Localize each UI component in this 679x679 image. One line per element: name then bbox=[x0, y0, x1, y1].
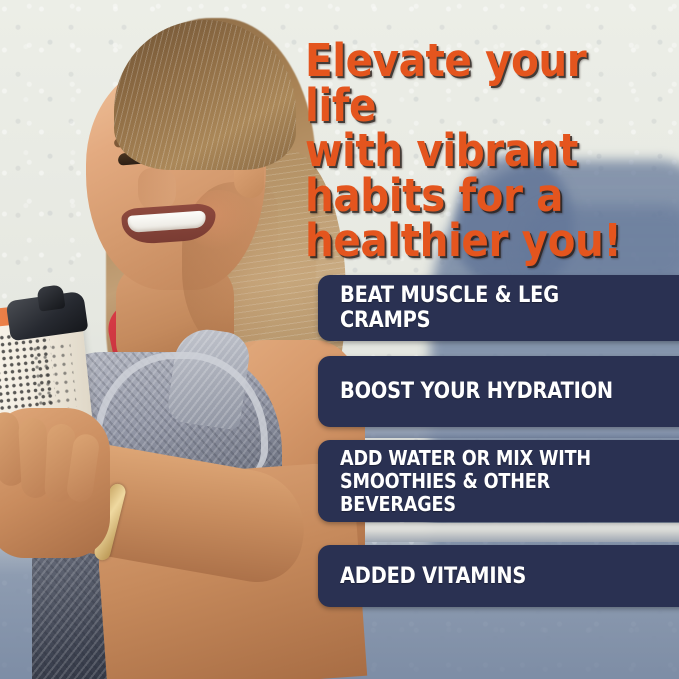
feature-bar-label: BEAT MUSCLE & LEG CRAMPS bbox=[340, 283, 651, 333]
feature-bar-label: ADDED VITAMINS bbox=[340, 564, 526, 589]
woman-athlete-figure bbox=[0, 0, 350, 679]
feature-bar: ADD WATER OR MIX WITH SMOOTHIES & OTHER … bbox=[318, 440, 679, 522]
feature-bar-label: BOOST YOUR HYDRATION bbox=[340, 379, 613, 404]
headline-text: Elevate your life with vibrant habits fo… bbox=[305, 38, 629, 263]
bottle-nozzle bbox=[36, 284, 65, 311]
feature-bar: ADDED VITAMINS bbox=[318, 545, 679, 607]
teeth bbox=[127, 210, 206, 232]
feature-bar: BOOST YOUR HYDRATION bbox=[318, 356, 679, 427]
advertisement-image: Elevate your life with vibrant habits fo… bbox=[0, 0, 679, 679]
feature-bar-label: ADD WATER OR MIX WITH SMOOTHIES & OTHER … bbox=[340, 447, 651, 516]
bottle-graphic-pattern-secondary bbox=[30, 341, 77, 411]
feature-bar: BEAT MUSCLE & LEG CRAMPS bbox=[318, 275, 679, 341]
